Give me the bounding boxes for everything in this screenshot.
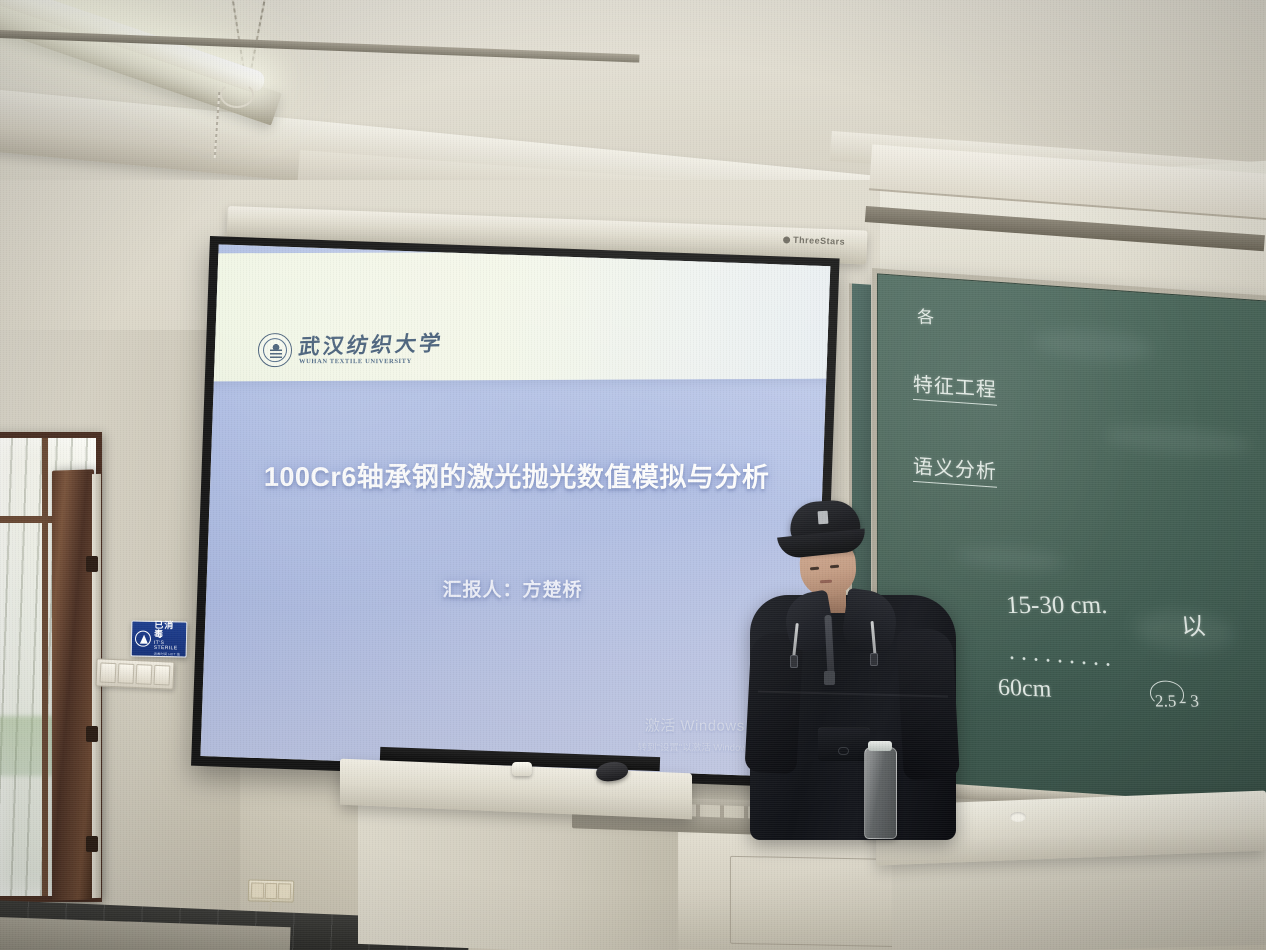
- water-bottle-cap: [868, 741, 892, 751]
- drawstring-tip-left: [790, 655, 798, 668]
- outlet-socket[interactable]: [251, 882, 264, 898]
- projector-screen: 武汉纺织大学 WUHAN TEXTILE UNIVERSITY 100Cr6轴承…: [191, 236, 840, 788]
- screen-surface: 武汉纺织大学 WUHAN TEXTILE UNIVERSITY 100Cr6轴承…: [200, 244, 830, 778]
- blackboard-note-4: 15-30 cm.: [1005, 592, 1108, 620]
- presenter-person: [748, 495, 963, 840]
- watermark-line-1: 激活 Windows: [638, 714, 752, 735]
- screen-brand-label: ThreeStars: [783, 234, 845, 246]
- sterile-sign-text: 已消毒 IT'S STERILE 消毒时间 HOT 值: [154, 621, 184, 657]
- slide-title: 100Cr6轴承钢的激光抛光数值模拟与分析: [211, 455, 823, 495]
- blackboard-note-2: 语义分析: [913, 450, 997, 488]
- window-mullion-v: [42, 438, 48, 896]
- sterile-sign-cn: 已消毒: [154, 621, 183, 640]
- cap-logo-icon: [818, 511, 829, 525]
- person-right-sleeve: [896, 628, 960, 781]
- podium-knob[interactable]: [512, 762, 532, 776]
- sterile-sign: 已消毒 IT'S STERILE 消毒时间 HOT 值: [131, 620, 188, 657]
- fluorescent-tube-icon: [0, 0, 267, 95]
- windows-activation-watermark: 激活 Windows 转到"设置"以激活 Windows: [638, 714, 752, 753]
- switch-key[interactable]: [136, 664, 153, 685]
- university-name-en: WUHAN TEXTILE UNIVERSITY: [299, 359, 443, 366]
- blackboard-note-7: 2.5 - 3: [1155, 692, 1200, 712]
- university-name-block: 武汉纺织大学 WUHAN TEXTILE UNIVERSITY: [299, 335, 443, 366]
- university-seal-icon: [258, 334, 292, 368]
- sterile-sign-sub: 消毒时间 HOT 值: [154, 653, 183, 657]
- drawstring-tip-right: [870, 653, 878, 666]
- university-name-cn: 武汉纺织大学: [297, 333, 444, 358]
- water-bottle: [864, 747, 897, 839]
- chalk-smudge: [1033, 326, 1153, 364]
- chalk-smudge: [956, 544, 1066, 574]
- outlet-socket[interactable]: [278, 883, 291, 899]
- switch-key[interactable]: [100, 662, 117, 683]
- switch-key[interactable]: [154, 665, 171, 686]
- chalk-squiggle: [1006, 654, 1111, 668]
- desk-cable-hole: [1010, 812, 1026, 822]
- door-hinge: [86, 836, 98, 852]
- sterile-triangle-icon: [135, 630, 151, 646]
- lamp-pull-ring: [220, 82, 254, 108]
- presentation-slide: 武汉纺织大学 WUHAN TEXTILE UNIVERSITY 100Cr6轴承…: [200, 244, 830, 778]
- blackboard-note-0: 各: [916, 303, 934, 328]
- jacket-zipper-pull: [824, 671, 835, 685]
- brand-dot-icon: [783, 236, 790, 243]
- person-mouth: [820, 580, 832, 584]
- jacket-pocket-flap: [818, 727, 870, 761]
- university-logo: 武汉纺织大学 WUHAN TEXTILE UNIVERSITY: [258, 333, 443, 367]
- door-hinge: [86, 556, 98, 572]
- ceiling-lamp: [0, 0, 300, 126]
- blackboard-note-6: 以: [1179, 606, 1207, 642]
- blackboard-note-5: 60cm: [998, 675, 1052, 704]
- slide-presenter: 汇报人：方楚桥: [207, 575, 819, 603]
- jacket-pocket-button: [838, 747, 849, 755]
- sterile-sign-en: IT'S STERILE: [154, 641, 183, 652]
- outlet-socket[interactable]: [264, 883, 277, 899]
- door-hinge: [86, 726, 98, 742]
- classroom-photo: ThreeStars 武汉纺织大学 WUHAN TEXTILE UNIVERSI…: [0, 0, 1266, 950]
- blackboard-note-1: 特征工程: [913, 368, 997, 406]
- watermark-line-2: 转到"设置"以激活 Windows: [638, 739, 752, 753]
- light-switch-panel[interactable]: [95, 658, 174, 689]
- switch-key[interactable]: [118, 663, 135, 684]
- chalk-smudge: [1103, 422, 1253, 458]
